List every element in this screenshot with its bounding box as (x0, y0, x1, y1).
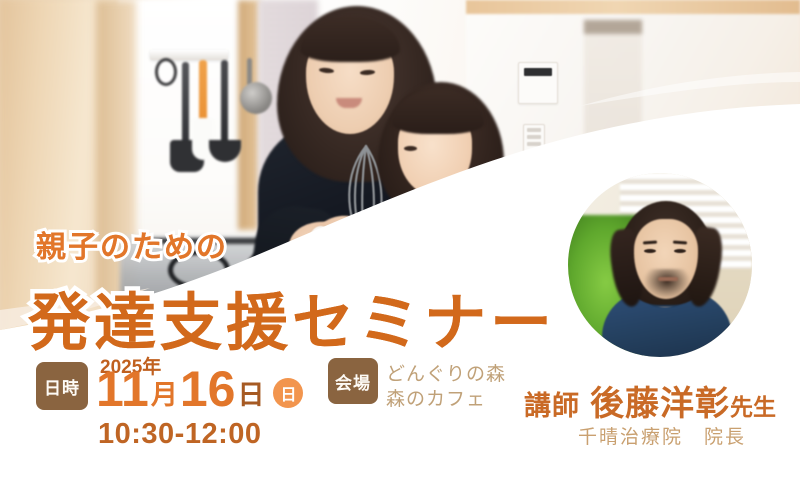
speaker-line: 講師 後藤洋彰 先生 (524, 376, 776, 425)
portrait-beard (644, 269, 690, 299)
day-of-week-badge: 日 (273, 378, 303, 408)
date-day-number: 16 (180, 366, 236, 412)
date-main: 11 月 16 日 日 (96, 366, 303, 412)
venue-line-2: 森のカフェ (386, 387, 506, 412)
speaker-name: 後藤洋彰 (580, 376, 730, 425)
date-month-number: 11 (96, 366, 149, 412)
date-badge: 日時 (36, 362, 88, 410)
egg (308, 226, 334, 258)
door-header (584, 20, 642, 34)
portrait-eye-right (674, 249, 686, 253)
date-day-unit: 日 (235, 382, 266, 412)
ladle-handle (221, 60, 228, 148)
child-eye (404, 146, 417, 151)
turner-handle (182, 62, 189, 152)
venue-badge: 会場 (328, 358, 378, 404)
seminar-poster: 親子のための 親子のための 発達支援セミナー 発達支援セミナー 日時 2025年… (0, 0, 800, 480)
speaker-label: 講師 (524, 384, 580, 423)
wall-control-panel (518, 62, 558, 104)
ring-utensil-icon (155, 58, 177, 86)
venue-text: どんぐりの森 森のカフェ (386, 362, 506, 412)
portrait-mouth (658, 277, 678, 281)
portrait-eye-left (644, 249, 656, 253)
light-switch-panel (523, 124, 545, 160)
venue-line-1: どんぐりの森 (386, 362, 506, 387)
speaker-suffix: 先生 (730, 388, 776, 422)
instructor-portrait (568, 173, 752, 357)
sub-title: 親子のための (36, 222, 228, 266)
ceiling-wood-trim (466, 0, 800, 14)
event-time: 10:30-12:00 (98, 418, 262, 451)
main-title: 発達支援セミナー (28, 272, 556, 362)
speaker-organization: 千晴治療院 院長 (578, 422, 746, 449)
date-month-unit: 月 (149, 382, 180, 412)
pan-body (240, 82, 272, 114)
wood-post (238, 0, 260, 230)
